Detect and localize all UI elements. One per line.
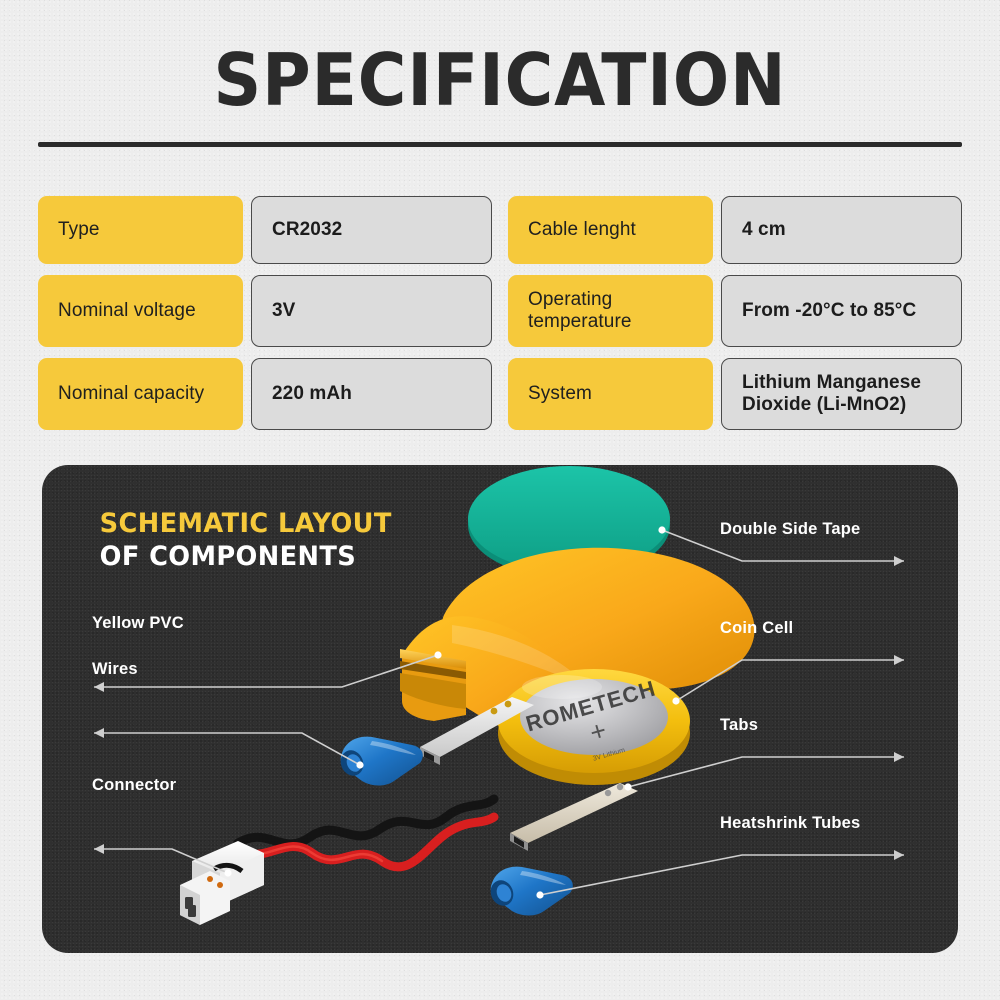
connector-part — [180, 841, 264, 925]
spec-value-nominal-voltage: 3V — [251, 275, 492, 347]
spec-key-type: Type — [38, 196, 243, 264]
spec-value-type: CR2032 — [251, 196, 492, 264]
label-wires: Wires — [92, 660, 138, 679]
heatshrink-tube-upper — [337, 737, 423, 786]
arrow-connector — [94, 844, 104, 854]
arrow-coin-cell — [894, 655, 904, 665]
spec-key-operating-temperature: Operating temperature — [508, 275, 713, 347]
page-title: SPECIFICATION — [40, 44, 960, 116]
specification-table: Type CR2032 Nominal voltage 3V Nominal c… — [38, 196, 962, 430]
spec-key-nominal-voltage: Nominal voltage — [38, 275, 243, 347]
label-double-side-tape: Double Side Tape — [720, 520, 860, 539]
table-row: Nominal capacity 220 mAh — [38, 358, 492, 430]
label-connector: Connector — [92, 776, 176, 795]
table-row: Type CR2032 — [38, 196, 492, 264]
spec-value-cable-length: 4 cm — [721, 196, 962, 264]
spec-key-system: System — [508, 358, 713, 430]
spec-value-operating-temperature: From -20°C to 85°C — [721, 275, 962, 347]
wires-part — [238, 799, 494, 867]
table-row: System Lithium Manganese Dioxide (Li-MnO… — [508, 358, 962, 430]
spec-value-system: Lithium Manganese Dioxide (Li-MnO2) — [721, 358, 962, 430]
arrow-tabs — [894, 752, 904, 762]
arrow-wires — [94, 728, 104, 738]
title-divider — [38, 142, 962, 147]
label-yellow-pvc: Yellow PVC — [92, 614, 184, 633]
spec-key-nominal-capacity: Nominal capacity — [38, 358, 243, 430]
leader-yellow-pvc — [94, 655, 438, 687]
table-row: Nominal voltage 3V — [38, 275, 492, 347]
leader-wires — [94, 733, 360, 765]
spec-column-left: Type CR2032 Nominal voltage 3V Nominal c… — [38, 196, 492, 430]
arrow-yellow-pvc — [94, 682, 104, 692]
label-tabs: Tabs — [720, 716, 758, 735]
label-heatshrink-tubes: Heatshrink Tubes — [720, 814, 860, 833]
table-row: Operating temperature From -20°C to 85°C — [508, 275, 962, 347]
coin-cell-part: ROMETECH + 3V Lithium — [498, 669, 690, 785]
arrow-double-side-tape — [894, 556, 904, 566]
leader-heatshrink — [540, 855, 904, 895]
label-coin-cell: Coin Cell — [720, 619, 793, 638]
tab-part-lower — [510, 783, 638, 851]
schematic-panel: SCHEMATIC LAYOUT OF COMPONENTS — [42, 465, 958, 953]
arrow-heatshrink — [894, 850, 904, 860]
table-row: Cable lenght 4 cm — [508, 196, 962, 264]
spec-key-cable-length: Cable lenght — [508, 196, 713, 264]
spec-value-nominal-capacity: 220 mAh — [251, 358, 492, 430]
spec-column-right: Cable lenght 4 cm Operating temperature … — [508, 196, 962, 430]
infographic-page: SPECIFICATION Type CR2032 Nominal voltag… — [0, 0, 1000, 1000]
